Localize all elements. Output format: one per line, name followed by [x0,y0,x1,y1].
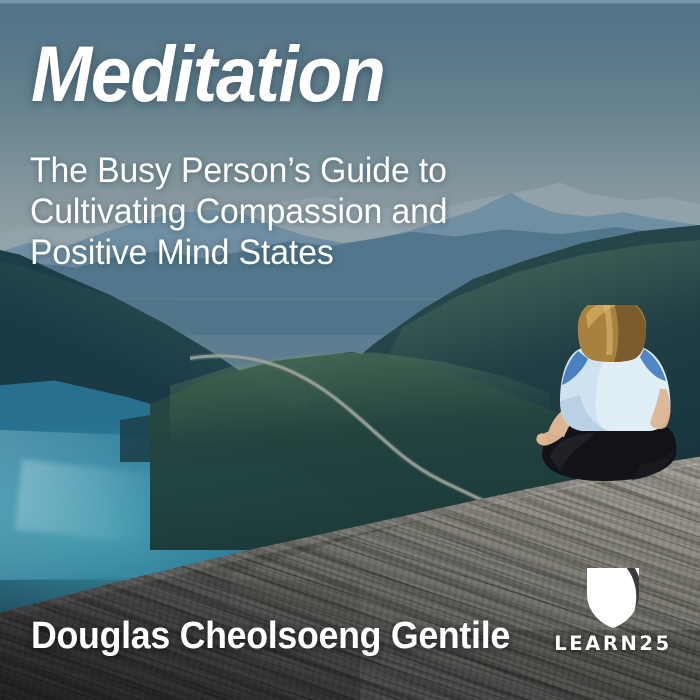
subtitle-line-3: Positive Mind States [30,232,447,273]
meditating-woman-figure [520,305,700,500]
shield-leaf-icon [585,566,641,629]
cover-title: Meditation [31,34,384,113]
publisher-name: LEARN25 [553,634,673,654]
cover-subtitle: The Busy Person’s Guide to Cultivating C… [30,150,447,273]
cover-author: Douglas Cheolsoeng Gentile [31,617,510,655]
subtitle-line-2: Cultivating Compassion and [30,191,447,232]
subtitle-line-1: The Busy Person’s Guide to [30,150,447,191]
publisher-logo: LEARN25 [553,566,673,662]
audiobook-cover: Meditation The Busy Person’s Guide to Cu… [0,0,700,700]
